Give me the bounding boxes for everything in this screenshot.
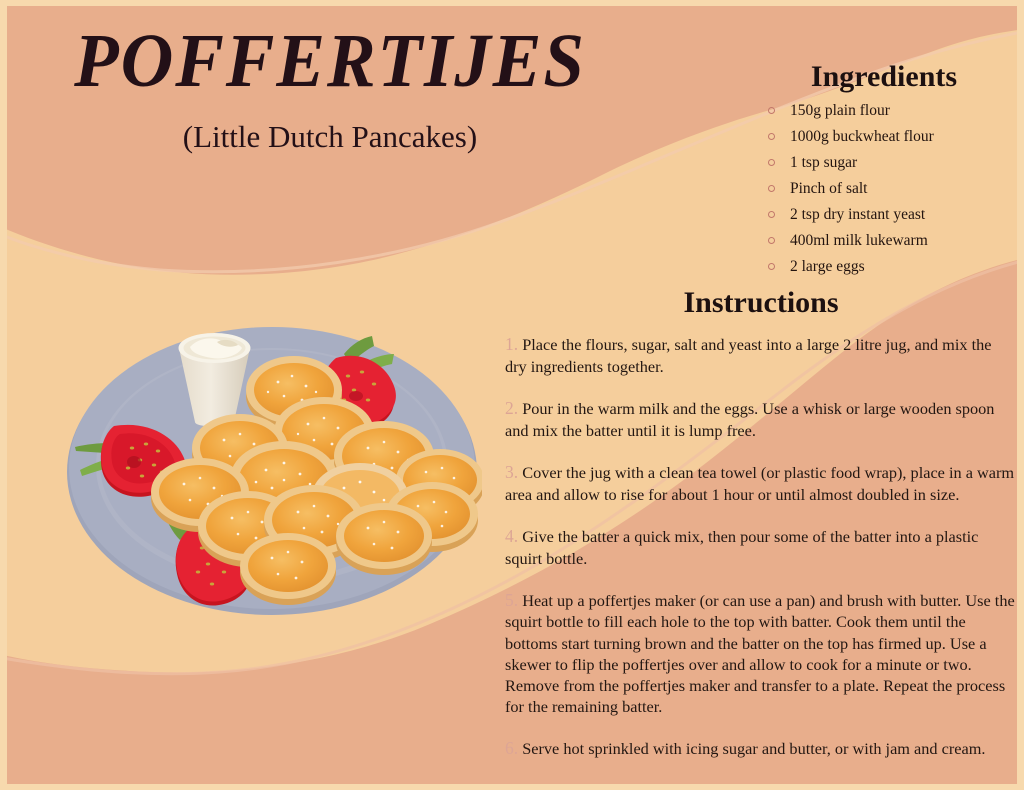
step-text: Give the batter a quick mix, then pour s…: [505, 527, 978, 568]
instruction-step: 4. Give the batter a quick mix, then pou…: [505, 525, 1017, 569]
instruction-step: 5. Heat up a poffertjes maker (or can us…: [505, 589, 1017, 718]
poffertje: [240, 533, 336, 605]
page-subtitle: (Little Dutch Pancakes): [0, 120, 660, 154]
circle-bullet-icon: [768, 237, 775, 244]
ingredient-label: 1000g buckwheat flour: [790, 128, 934, 145]
circle-bullet-icon: [768, 159, 775, 166]
circle-bullet-icon: [768, 211, 775, 218]
step-text: Serve hot sprinkled with icing sugar and…: [522, 739, 985, 758]
page-title: POFFERTIJES: [13, 22, 647, 102]
step-text: Place the flours, sugar, salt and yeast …: [505, 335, 991, 376]
list-item: 2 tsp dry instant yeast: [768, 207, 1016, 223]
title-block: POFFERTIJES (Little Dutch Pancakes): [0, 22, 660, 154]
ingredient-label: 1 tsp sugar: [790, 154, 857, 171]
step-number: 5.: [505, 590, 518, 610]
circle-bullet-icon: [768, 107, 775, 114]
list-item: 2 large eggs: [768, 259, 1016, 275]
instruction-step: 2. Pour in the warm milk and the eggs. U…: [505, 397, 1017, 441]
list-item: 1 tsp sugar: [768, 155, 1016, 171]
ingredients-heading: Ingredients: [752, 60, 1016, 93]
instruction-step: 3. Cover the jug with a clean tea towel …: [505, 461, 1017, 505]
ingredients-list: 150g plain flour 1000g buckwheat flour 1…: [752, 103, 1016, 275]
circle-bullet-icon: [768, 133, 775, 140]
instruction-step: 1. Place the flours, sugar, salt and yea…: [505, 333, 1017, 377]
instruction-step: 6. Serve hot sprinkled with icing sugar …: [505, 737, 1017, 760]
step-number: 4.: [505, 526, 518, 546]
list-item: Pinch of salt: [768, 181, 1016, 197]
step-number: 6.: [505, 738, 518, 758]
ingredient-label: 400ml milk lukewarm: [790, 232, 928, 249]
step-number: 3.: [505, 462, 518, 482]
ingredient-label: 2 tsp dry instant yeast: [790, 206, 925, 223]
ingredient-label: 2 large eggs: [790, 258, 865, 275]
recipe-card: POFFERTIJES (Little Dutch Pancakes) Ingr…: [0, 0, 1024, 790]
list-item: 150g plain flour: [768, 103, 1016, 119]
ingredient-label: Pinch of salt: [790, 180, 868, 197]
list-item: 1000g buckwheat flour: [768, 129, 1016, 145]
ingredient-label: 150g plain flour: [790, 102, 890, 119]
list-item: 400ml milk lukewarm: [768, 233, 1016, 249]
step-text: Heat up a poffertjes maker (or can use a…: [505, 591, 1015, 716]
instructions-section: Instructions 1. Place the flours, sugar,…: [505, 286, 1017, 760]
step-text: Pour in the warm milk and the eggs. Use …: [505, 399, 994, 440]
circle-bullet-icon: [768, 263, 775, 270]
step-number: 1.: [505, 334, 518, 354]
poffertje: [336, 503, 432, 575]
step-text: Cover the jug with a clean tea towel (or…: [505, 463, 1014, 504]
ingredients-section: Ingredients 150g plain flour 1000g buckw…: [752, 60, 1016, 285]
step-number: 2.: [505, 398, 518, 418]
instructions-heading: Instructions: [505, 286, 1017, 319]
plate-of-poffertjes-illustration: [62, 320, 482, 620]
circle-bullet-icon: [768, 185, 775, 192]
